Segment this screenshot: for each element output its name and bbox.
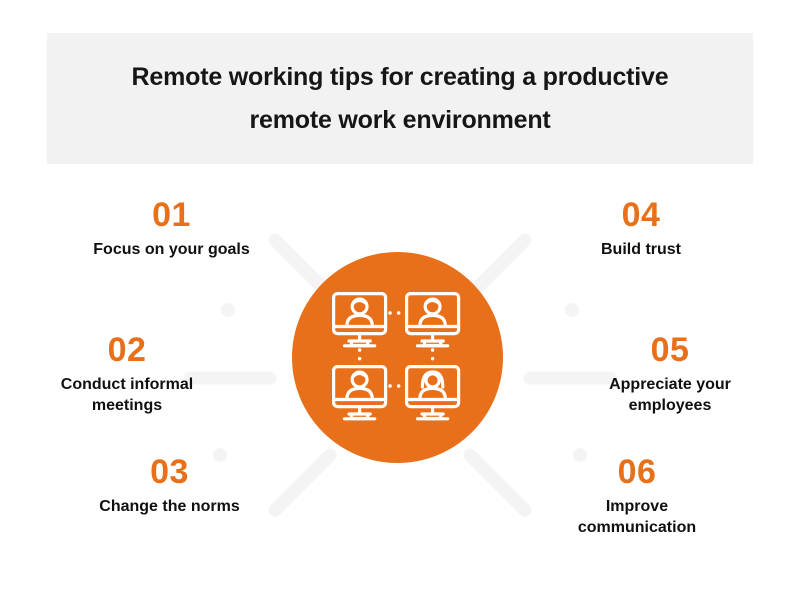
tip-item-03[interactable]: 03 Change the norms [88,455,251,517]
tip-label-01: Focus on your goals [93,239,249,260]
tip-number-01: 01 [152,198,191,234]
tip-number-05: 05 [651,333,690,369]
tip-number-06: 06 [618,455,657,491]
page-title: Remote working tips for creating a produ… [47,33,753,164]
tip-item-02[interactable]: 02 Conduct informal meetings [48,333,206,416]
infographic-canvas: Remote working tips for creating a produ… [0,0,800,600]
tip-label-04: Build trust [601,239,681,260]
tip-item-06[interactable]: 06 Improve communication [556,455,718,538]
page-title-line-1: Remote working tips for creating a produ… [132,56,669,99]
tip-item-05[interactable]: 05 Appreciate your employees [599,333,741,416]
tip-label-06: Improve communication [578,496,696,538]
center-circle [292,252,503,463]
tip-number-04: 04 [622,198,661,234]
tip-label-02: Conduct informal meetings [61,374,193,416]
page-title-line-2: remote work environment [249,99,550,142]
tip-number-02: 02 [108,333,147,369]
tip-item-04[interactable]: 04 Build trust [570,198,712,260]
header-band: Remote working tips for creating a produ… [47,33,753,164]
video-conference-icon [332,292,464,424]
tip-label-05: Appreciate your employees [609,374,731,416]
tip-number-03: 03 [150,455,189,491]
tip-label-03: Change the norms [99,496,239,517]
tip-item-01[interactable]: 01 Focus on your goals [83,198,260,260]
